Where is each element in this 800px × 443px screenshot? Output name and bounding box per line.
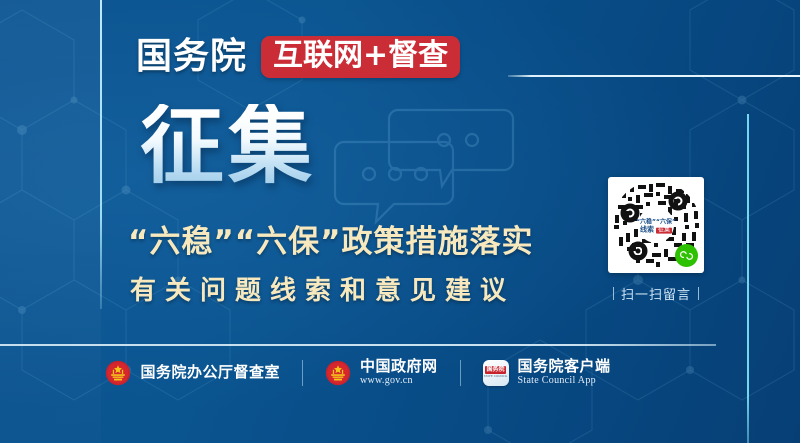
left-guide-line xyxy=(100,0,102,309)
footer-item-state-council-app[interactable]: 国务院 STATE COUNCIL 国务院客户端 State Council A… xyxy=(461,358,633,387)
page-title: 征集 xyxy=(140,104,316,188)
footer-item-subname: State Council App xyxy=(518,375,611,387)
footer-item-name: 国务院客户端 xyxy=(518,358,611,375)
caption-divider-right xyxy=(698,287,699,300)
caption-divider-left xyxy=(613,287,614,300)
footer-item-name: 中国政府网 xyxy=(360,358,438,375)
state-council-app-icon: 国务院 STATE COUNCIL xyxy=(483,360,509,386)
subtitle-line-1: “六稳”“六保”政策措施落实 xyxy=(128,224,534,261)
qr-caption-text: 扫一扫留言 xyxy=(621,284,691,303)
qr-caption: 扫一扫留言 xyxy=(608,284,704,303)
footer-item-name: 国务院办公厅督查室 xyxy=(140,364,280,381)
footer-item-state-council-inspection-office[interactable]: 国务院办公厅督查室 xyxy=(83,360,302,386)
top-rule xyxy=(508,75,800,77)
subtitle-line-2: 有关问题线索和意见建议 xyxy=(130,276,515,307)
footer-item-subname: www.gov.cn xyxy=(360,375,438,387)
national-emblem-icon xyxy=(105,360,131,386)
app-icon-subtext: STATE COUNCIL xyxy=(484,375,508,379)
qr-center-line2: 线索 xyxy=(640,227,654,234)
qr-code[interactable]: “六稳”“六保” 线索 征集 xyxy=(608,177,704,273)
poster-canvas: 国务院 互联网+督查 征集 “六稳”“六保”政策措施落实 有关问题线索和意见建议 xyxy=(0,0,800,443)
chat-bubble-watermark xyxy=(332,98,522,228)
app-icon-text: 国务院 xyxy=(485,366,505,374)
program-badge: 互联网+督查 xyxy=(261,36,460,78)
org-label: 国务院 xyxy=(136,39,247,75)
qr-center-badge: 征集 xyxy=(656,227,672,233)
wechat-mini-program-icon xyxy=(675,244,698,267)
header-row: 国务院 互联网+督查 xyxy=(136,36,460,78)
footer-logos: 国务院办公厅督查室 中国政府网 www.gov.cn xyxy=(0,358,716,387)
qr-center-label: “六稳”“六保” 线索 征集 xyxy=(633,220,679,235)
national-emblem-icon xyxy=(325,360,351,386)
footer-rule xyxy=(0,344,716,346)
right-guide-line xyxy=(747,114,749,443)
footer-item-gov-cn[interactable]: 中国政府网 www.gov.cn xyxy=(303,358,460,387)
